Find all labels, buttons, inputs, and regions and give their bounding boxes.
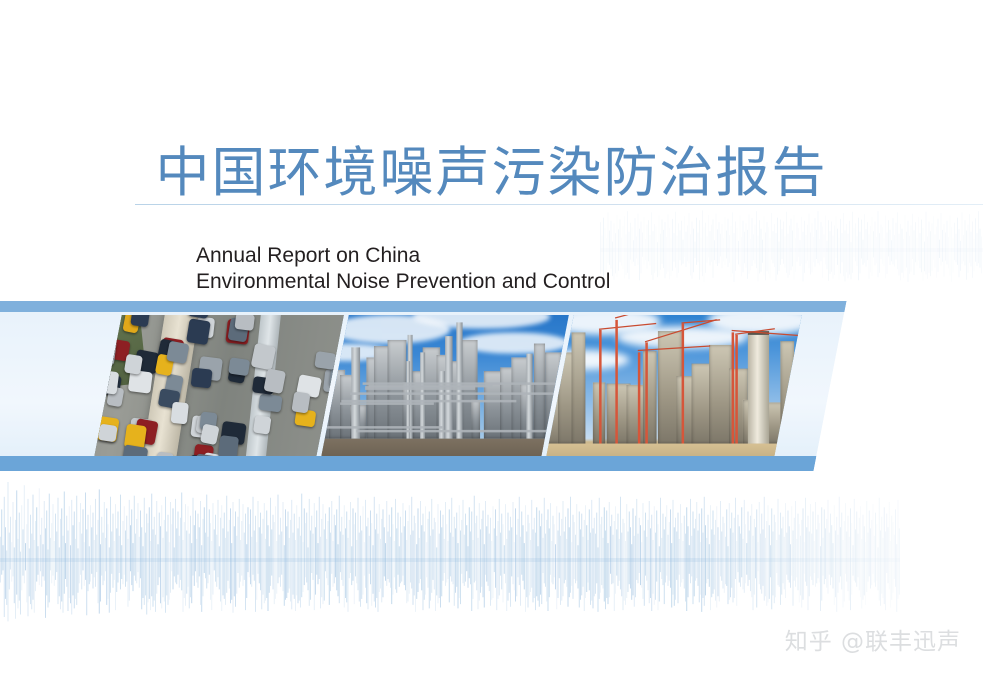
- photo-row: [94, 315, 801, 456]
- industrial-plant-photo: [321, 315, 568, 456]
- band-bottom-strip: [0, 456, 816, 471]
- waveform-fade-overlay: [700, 472, 983, 644]
- presentation-slide: 中国环境噪声污染防治报告 Annual Report on China Envi…: [0, 0, 983, 678]
- title-divider-rule: [135, 204, 983, 205]
- page-subtitle-english: Annual Report on China Environmental Noi…: [196, 243, 610, 295]
- audio-waveform-bottom-decoration: [0, 472, 900, 644]
- band-top-strip: [0, 301, 847, 312]
- traffic-congestion-photo: [94, 315, 343, 456]
- watermark-zhihu: 知乎 @联丰迅声: [785, 622, 961, 656]
- photo-band: [0, 301, 847, 471]
- construction-site-photo: [546, 315, 801, 456]
- audio-waveform-top-decoration: [600, 196, 983, 304]
- page-title-chinese: 中国环境噪声污染防治报告: [0, 128, 983, 207]
